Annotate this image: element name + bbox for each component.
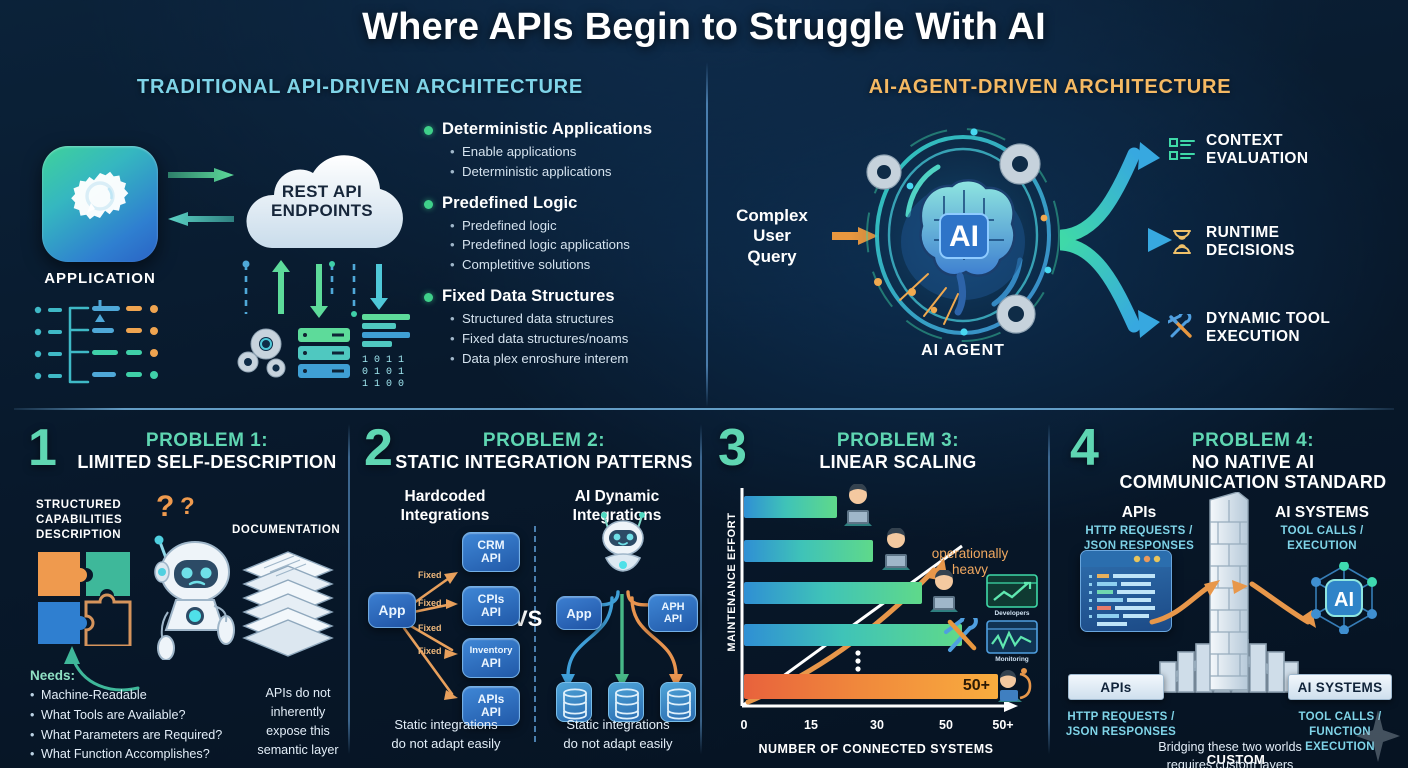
watermark-icon	[1356, 710, 1400, 762]
svg-text:?: ?	[180, 493, 195, 520]
bullet-dot-icon	[424, 200, 433, 209]
api-box-crm: CRMAPI	[462, 532, 520, 572]
chart-xtick: 0	[741, 718, 748, 732]
complex-user-query-label: ComplexUserQuery	[712, 206, 832, 267]
traditional-bullets: Deterministic Applications Enable applic…	[424, 120, 694, 380]
bullet-sublist: Enable applications Deterministic applic…	[424, 142, 694, 182]
bullet-group: Deterministic Applications Enable applic…	[424, 120, 694, 182]
apis-heading: APIs	[1074, 504, 1204, 522]
problem-title: PROBLEM 2: STATIC INTEGRATION PATTERNS	[394, 430, 694, 472]
cloud-label: REST APIENDPOINTS	[236, 182, 408, 220]
application-label: APPLICATION	[10, 270, 190, 287]
horizontal-divider	[14, 408, 1394, 410]
question-marks-icon: ? ?	[154, 488, 210, 524]
ai-badge-text: AI	[1334, 589, 1354, 611]
output-label: RUNTIMEDECISIONS	[1206, 224, 1295, 260]
problem-number: 2	[364, 422, 393, 474]
ai-systems-plate: AI SYSTEMS	[1288, 674, 1392, 700]
translation-arrows-icon	[1148, 570, 1318, 630]
developer-avatar-icon	[838, 484, 878, 528]
monitoring-panel-icon	[986, 620, 1038, 654]
agent-output-arrows	[1060, 110, 1180, 370]
section-header-agentic: AI-AGENT-DRIVEN ARCHITECTURE	[730, 76, 1370, 99]
list-item: Enable applications	[450, 142, 694, 162]
section-header-traditional: TRADITIONAL API-DRIVEN ARCHITECTURE	[40, 76, 680, 99]
bullet-group: Fixed Data Structures Structured data st…	[424, 287, 694, 368]
output-context-evaluation: CONTEXTEVALUATION	[1168, 132, 1308, 168]
svg-text:1 1 0 0: 1 1 0 0	[362, 379, 404, 390]
developer-avatar-icon	[876, 528, 916, 572]
chart-bar-value-label: 50+	[963, 677, 990, 695]
problem-panel-3: 3 PROBLEM 3: LINEAR SCALING MAINTENANCE …	[708, 420, 1046, 765]
api-box-inventory: InventoryAPI	[462, 638, 520, 678]
overwhelmed-dev-icon	[994, 668, 1034, 704]
bullet-heading: Fixed Data Structures	[424, 287, 694, 306]
problem-2-footer-left: Static integrationsdo not adapt easily	[366, 716, 526, 754]
chart-bar	[744, 582, 922, 604]
tools-icon	[944, 618, 986, 654]
problem-title: PROBLEM 1: LIMITED SELF-DESCRIPTION	[76, 430, 338, 472]
application-icon	[42, 146, 158, 262]
bullet-dot-icon	[424, 126, 433, 135]
app-box-right: App	[556, 596, 602, 630]
apis-plate: APIs	[1068, 674, 1164, 700]
api-box-cpis: CPIsAPI	[462, 586, 520, 626]
list-item: Machine-Readable	[30, 686, 244, 706]
edge-label-fixed: Fixed	[418, 598, 442, 608]
ellipsis-icon	[848, 650, 868, 674]
bullet-dot-icon	[424, 293, 433, 302]
output-dynamic-tool-execution: DYNAMIC TOOLEXECUTION	[1168, 310, 1330, 346]
tools-icon	[1168, 314, 1196, 342]
problem-title: PROBLEM 4: NO NATIVE AI COMMUNICATION ST…	[1108, 430, 1398, 492]
list-item: Predefined logic applications	[450, 235, 694, 255]
confused-robot-icon	[140, 520, 250, 660]
bullet-heading: Deterministic Applications	[424, 120, 694, 139]
bullet-sublist: Structured data structures Fixed data st…	[424, 309, 694, 368]
backend-systems-graphic: 1 0 1 1 0 1 0 1 1 1 0 0	[236, 258, 416, 398]
chart-x-axis-label: NUMBER OF CONNECTED SYSTEMS	[716, 742, 1036, 756]
svg-text:0 1 0 1: 0 1 0 1	[362, 367, 404, 378]
ai-systems-subtitle: TOOL CALLS /EXECUTION	[1252, 524, 1392, 553]
needs-list: Machine-Readable What Tools are Availabl…	[30, 686, 244, 765]
svg-text:1 0 1 1: 1 0 1 1	[362, 355, 404, 366]
hourglass-icon	[1168, 228, 1196, 256]
list-item: Structured data structures	[450, 309, 694, 329]
chart-bar-highlight: 50+	[744, 674, 998, 699]
app-box-left: App	[368, 592, 416, 628]
output-runtime-decisions: RUNTIMEDECISIONS	[1168, 224, 1295, 260]
chart-bar	[744, 540, 873, 562]
ai-brain-graphic: AI	[848, 120, 1078, 350]
panel-divider-2	[700, 424, 702, 754]
chart-bar	[744, 624, 962, 646]
panel-divider-1	[348, 424, 350, 754]
panel-divider-3	[1048, 424, 1050, 754]
page-title: Where APIs Begin to Struggle With AI	[0, 6, 1408, 49]
bullet-heading: Predefined Logic	[424, 194, 694, 213]
svg-text:?: ?	[156, 490, 174, 523]
structured-capabilities-label: STRUCTUREDCAPABILITIESDESCRIPTION	[36, 498, 122, 543]
bullet-sublist: Predefined logic Predefined logic applic…	[424, 216, 694, 275]
problem-2-footer-right: Static integrationsdo not adapt easily	[540, 716, 696, 754]
problem-title: PROBLEM 3: LINEAR SCALING	[758, 430, 1038, 472]
list-item: Completitive solutions	[450, 255, 694, 275]
list-item: Predefined logic	[450, 216, 694, 236]
edge-label-fixed: Fixed	[418, 570, 442, 580]
arrow-app-to-api	[168, 168, 234, 182]
ai-systems-heading: AI SYSTEMS	[1252, 504, 1392, 522]
chart-xtick: 50+	[992, 718, 1013, 732]
chart-xtick: 50	[939, 718, 953, 732]
problem-number: 4	[1070, 422, 1099, 474]
ai-agent-label: AI AGENT	[848, 342, 1078, 360]
code-lines-graphic	[30, 300, 170, 396]
ai-bot-icon	[594, 512, 652, 576]
problem-panel-2: 2 PROBLEM 2: STATIC INTEGRATION PATTERNS…	[356, 420, 698, 765]
arrow-api-to-app	[168, 212, 234, 226]
problem-panel-1: 1 PROBLEM 1: LIMITED SELF-DESCRIPTION ST…	[14, 420, 344, 765]
chart-xtick: 30	[870, 718, 884, 732]
infographic-canvas: Where APIs Begin to Struggle With AI TRA…	[0, 0, 1408, 768]
edge-label-fixed: Fixed	[418, 646, 442, 656]
edge-label-fixed: Fixed	[418, 623, 442, 633]
vertical-divider	[706, 62, 708, 407]
puzzle-pieces-icon	[36, 550, 132, 646]
problem-panel-4: 4 PROBLEM 4: NO NATIVE AI COMMUNICATION …	[1056, 420, 1400, 765]
problem-number: 1	[28, 422, 57, 474]
problem-1-note: APIs do not inherently expose this seman…	[252, 684, 344, 760]
needs-heading: Needs:	[30, 668, 75, 683]
list-item: Deterministic applications	[450, 162, 694, 182]
list-item: What Tools are Available?	[30, 706, 244, 726]
list-item: Data plex enroshure interem	[450, 349, 694, 369]
chart-mini-label-monitoring: Monitoring	[986, 656, 1038, 663]
chart-bar	[744, 496, 837, 518]
developer-avatar-icon	[924, 570, 964, 614]
svg-text:AI: AI	[949, 220, 979, 253]
chart-xtick: 15	[804, 718, 818, 732]
list-item: What Function Accomplishes?	[30, 745, 244, 765]
linear-scaling-chart: MAINTENANCE EFFORT NUMBER OF CONNECTED S…	[708, 478, 1046, 766]
output-label: CONTEXTEVALUATION	[1206, 132, 1308, 168]
bullet-group: Predefined Logic Predefined logic Predef…	[424, 194, 694, 275]
api-box-aph: APHAPI	[648, 594, 698, 632]
ai-network-icon: AI	[1308, 562, 1380, 634]
list-item: Fixed data structures/noams	[450, 329, 694, 349]
list-item: What Parameters are Required?	[30, 726, 244, 746]
apis-caption: HTTP REQUESTS /JSON RESPONSES	[1062, 710, 1180, 740]
problem-4-footer: Bridging these two worldsrequires custom…	[1076, 738, 1384, 768]
developers-panel-icon	[986, 574, 1038, 608]
problem-number: 3	[718, 422, 747, 474]
output-label: DYNAMIC TOOLEXECUTION	[1206, 310, 1330, 346]
document-stack-icon	[236, 548, 340, 658]
chart-mini-label-developers: Developers	[986, 610, 1038, 617]
checklist-icon	[1168, 136, 1196, 164]
